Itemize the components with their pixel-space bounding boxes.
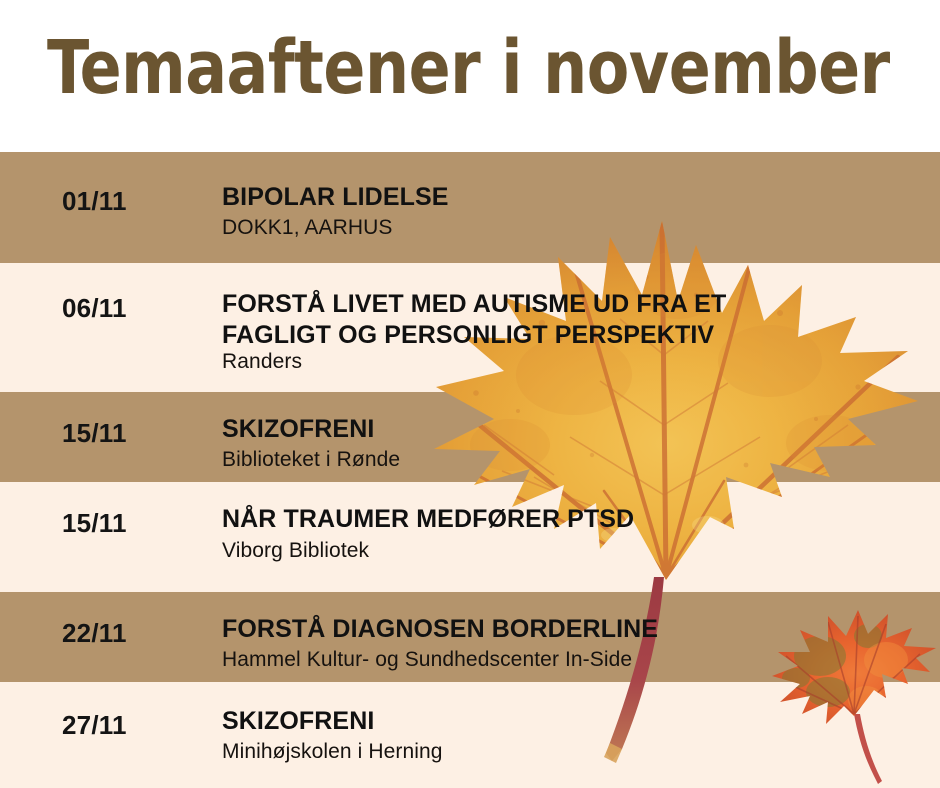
event-title: NÅR TRAUMER MEDFØRER PTSD: [222, 504, 634, 535]
list-item[interactable]: 06/11 FORSTÅ LIVET MED AUTISME UD FRA ET…: [0, 263, 940, 392]
list-item[interactable]: 15/11 NÅR TRAUMER MEDFØRER PTSD Viborg B…: [0, 482, 940, 592]
event-venue: Biblioteket i Rønde: [222, 447, 400, 473]
event-title: BIPOLAR LIDELSE: [222, 182, 449, 213]
event-date: 27/11: [62, 710, 127, 741]
list-item[interactable]: 01/11 BIPOLAR LIDELSE DOKK1, AARHUS: [0, 152, 940, 263]
event-venue: Viborg Bibliotek: [222, 538, 369, 564]
event-title: FORSTÅ DIAGNOSEN BORDERLINE: [222, 614, 658, 645]
event-title: SKIZOFRENI: [222, 706, 374, 737]
event-date: 15/11: [62, 418, 127, 449]
list-item[interactable]: 22/11 FORSTÅ DIAGNOSEN BORDERLINE Hammel…: [0, 592, 940, 682]
event-date: 06/11: [62, 293, 127, 324]
list-item[interactable]: 15/11 SKIZOFRENI Biblioteket i Rønde: [0, 392, 940, 482]
poster-canvas: Temaaftener i november 01/11 BIPOLAR LID…: [0, 0, 940, 788]
list-item[interactable]: 27/11 SKIZOFRENI Minihøjskolen i Herning: [0, 682, 940, 788]
event-title: FORSTÅ LIVET MED AUTISME UD FRA ET FAGLI…: [222, 289, 842, 351]
event-venue: Hammel Kultur- og Sundhedscenter In-Side: [222, 647, 632, 673]
event-venue: DOKK1, AARHUS: [222, 215, 393, 241]
event-date: 22/11: [62, 618, 127, 649]
event-title: SKIZOFRENI: [222, 414, 374, 445]
event-venue: Randers: [222, 349, 302, 375]
page-title: Temaaftener i november: [47, 28, 890, 108]
event-venue: Minihøjskolen i Herning: [222, 739, 443, 765]
poster-header: Temaaftener i november: [0, 0, 940, 152]
event-date: 15/11: [62, 508, 127, 539]
event-date: 01/11: [62, 186, 127, 217]
